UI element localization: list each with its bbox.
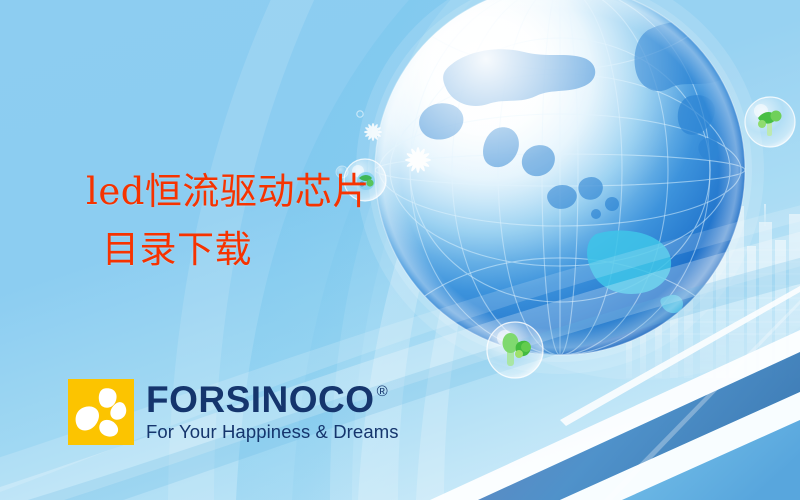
promo-banner: led恒流驱动芯片 目录下载 FORSINOCO ® For Your Happ xyxy=(0,0,800,500)
sparkle-starburst-icon xyxy=(405,147,431,173)
city-skyline-silhouette xyxy=(626,186,800,378)
logo-tagline: For Your Happiness & Dreams xyxy=(146,421,399,442)
logo-wordmark: FORSINOCO ® xyxy=(146,382,399,418)
sparkle-starburst-icon xyxy=(357,111,363,117)
bubble-tree-icon xyxy=(487,322,543,378)
diagonal-ribbon-bands xyxy=(430,286,800,500)
headline-block: led恒流驱动芯片 目录下载 xyxy=(86,163,370,280)
logo-wordmark-text: FORSINOCO xyxy=(146,382,375,418)
registered-trademark-icon: ® xyxy=(377,384,389,399)
bubble-leaf-icon xyxy=(745,97,795,147)
earth-globe-graphic xyxy=(356,0,764,374)
company-logo: FORSINOCO ® For Your Happiness & Dreams xyxy=(68,379,399,445)
logo-text-block: FORSINOCO ® For Your Happiness & Dreams xyxy=(146,382,399,443)
headline-line-2: 目录下载 xyxy=(86,221,370,279)
headline-line-1: led恒流驱动芯片 xyxy=(86,163,370,221)
pinwheel-flower-icon xyxy=(68,379,134,445)
sparkle-starburst-icon xyxy=(364,123,382,141)
